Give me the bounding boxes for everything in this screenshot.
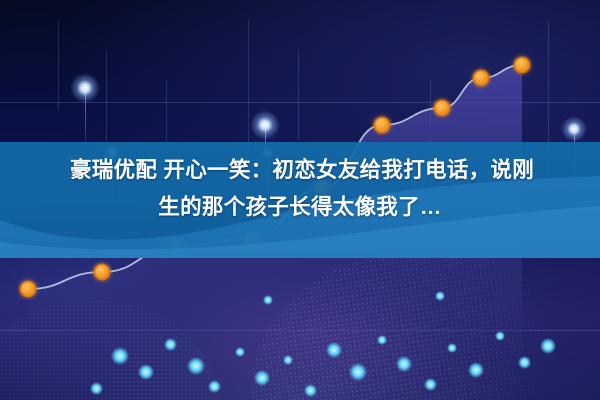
sparkle-6	[254, 370, 270, 386]
headline-line-2: 生的那个孩子长得太像我了…	[0, 189, 600, 226]
sparkle-15	[468, 362, 484, 378]
promo-banner-image: 豪瑞优配 开心一笑：初恋女友给我打电话，说刚 生的那个孩子长得太像我了…	[0, 0, 600, 400]
sparkle-1	[138, 364, 154, 380]
sparkle-8	[304, 384, 317, 397]
sparkle-19	[90, 382, 103, 395]
sparkle-2	[164, 338, 177, 351]
headline-line-1: 豪瑞优配 开心一笑：初恋女友给我打电话，说刚	[0, 152, 600, 189]
sparkle-0	[111, 347, 129, 365]
sparkle-3	[187, 357, 205, 375]
sparkle-7	[283, 355, 293, 365]
sparkle-9	[326, 342, 342, 358]
sparkle-18	[540, 338, 556, 354]
sparkle-5	[235, 347, 245, 357]
sparkle-16	[495, 331, 505, 341]
sparkle-12	[396, 356, 412, 372]
sparkle-10	[349, 363, 367, 381]
sparkle-21	[435, 291, 445, 301]
sparkle-13	[424, 378, 437, 391]
headline-text: 豪瑞优配 开心一笑：初恋女友给我打电话，说刚 生的那个孩子长得太像我了…	[0, 152, 600, 226]
sparkle-20	[263, 295, 273, 305]
sparkle-17	[518, 356, 531, 369]
sparkle-11	[377, 335, 387, 345]
sparkle-4	[208, 380, 221, 393]
sparkle-14	[447, 343, 457, 353]
